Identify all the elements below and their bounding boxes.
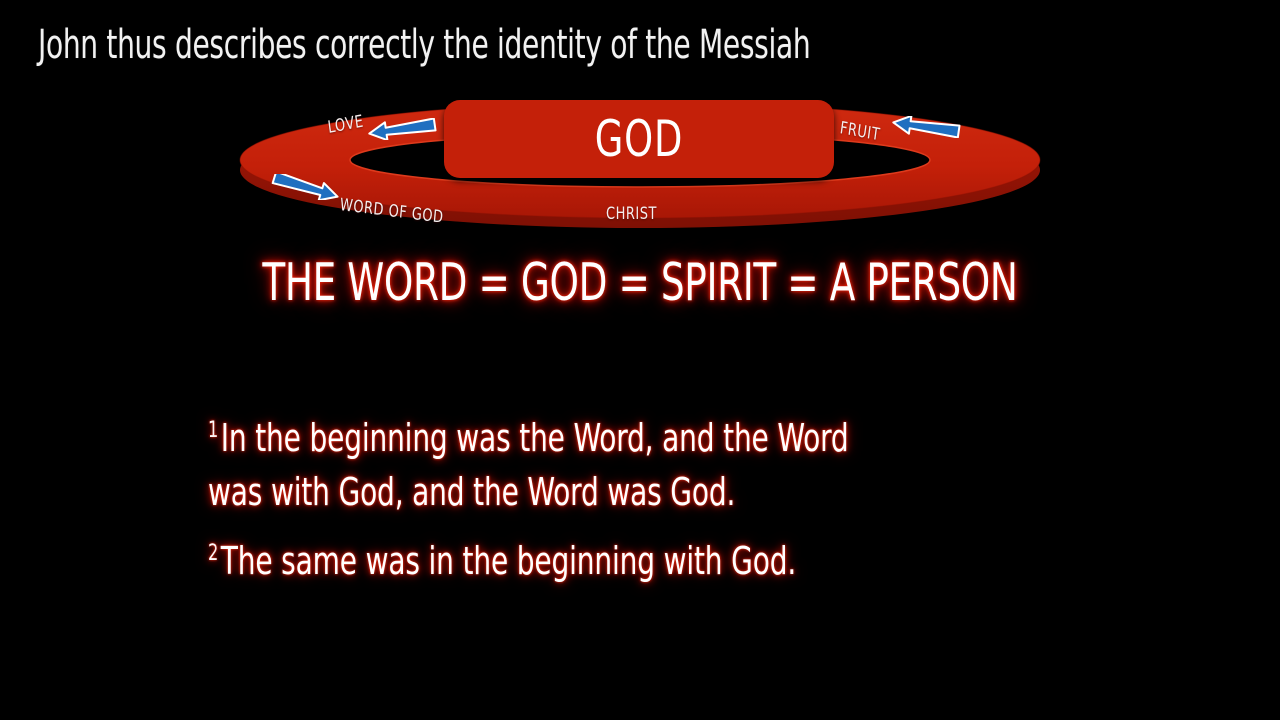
verse-2: 2The same was in the beginning with God. [208,527,1038,588]
scripture-block: 1In the beginning was the Word, and the … [208,404,1038,588]
god-center-box: GOD [444,100,834,178]
god-box-label: GOD [479,100,799,178]
ring-label-christ: CHRIST [606,204,657,224]
page-title: John thus describes correctly the identi… [38,22,810,68]
god-christ-ring-diagram: GOD LOVE FRUIT [228,88,1052,238]
verse-1-text: In the beginning was the Word, and the W… [208,416,849,514]
headline-equation: THE WORD = GOD = SPIRIT = A PERSON [0,252,1280,314]
verse-2-text: The same was in the beginning with God. [221,539,796,583]
verse-1: 1In the beginning was the Word, and the … [208,404,1038,519]
word-of-god-arrow-icon [270,174,342,205]
slide-canvas: John thus describes correctly the identi… [0,0,1280,720]
love-arrow-icon [366,118,438,145]
fruit-arrow-icon [890,116,962,143]
verse-1-number: 1 [208,418,218,443]
headline-text: THE WORD = GOD = SPIRIT = A PERSON [262,252,1017,314]
verse-2-number: 2 [208,541,218,566]
